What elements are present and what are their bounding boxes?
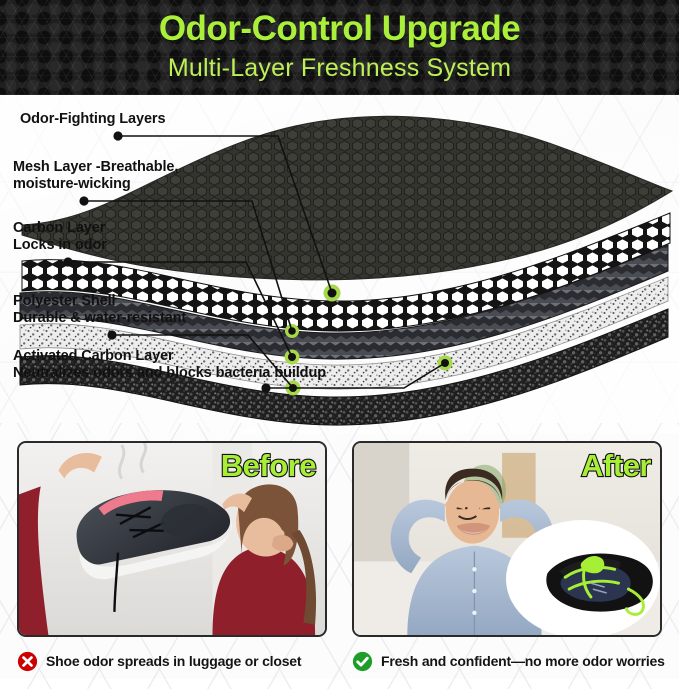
callout-polyester-shell: Polyester Shell Durable & water-resistan… bbox=[13, 293, 186, 327]
after-photo-panel: After bbox=[352, 441, 662, 637]
callout-carbon-layer: Carbon Layer Locks in odor bbox=[13, 220, 107, 254]
before-after-comparison: Before Shoe odor spreads in luggage or c… bbox=[0, 433, 679, 679]
before-caption-text: Shoe odor spreads in luggage or closet bbox=[46, 653, 301, 669]
before-caption: Shoe odor spreads in luggage or closet bbox=[17, 647, 301, 675]
callout-mesh-layer: Mesh Layer -Breathable, moisture-wicking bbox=[13, 159, 178, 193]
exploded-layer-illustration bbox=[0, 95, 679, 433]
after-caption-text: Fresh and confident—no more odor worries bbox=[381, 653, 665, 669]
layer-diagram-section: Odor-Fighting Layers Mesh Layer -Breatha… bbox=[0, 95, 679, 433]
after-caption: Fresh and confident—no more odor worries bbox=[352, 647, 665, 675]
x-circle-icon bbox=[17, 651, 38, 672]
check-circle-icon bbox=[352, 651, 373, 672]
page-title: Odor-Control Upgrade bbox=[0, 0, 679, 46]
leader-dot-5 bbox=[261, 383, 270, 392]
leader-dot-3 bbox=[63, 257, 72, 266]
leader-dot-1 bbox=[113, 131, 122, 140]
leader-dot-4 bbox=[107, 330, 116, 339]
leader-dot-2 bbox=[79, 196, 88, 205]
page-subtitle: Multi-Layer Freshness System bbox=[0, 46, 679, 81]
before-photo-panel: Before bbox=[17, 441, 327, 637]
callout-odor-fighting-layers: Odor-Fighting Layers bbox=[20, 111, 165, 128]
header-banner: Odor-Control Upgrade Multi-Layer Freshne… bbox=[0, 0, 679, 95]
callout-activated-carbon: Activated Carbon Layer Neutralizes odors… bbox=[13, 348, 326, 382]
before-badge: Before bbox=[221, 450, 316, 481]
after-badge: After bbox=[581, 450, 651, 481]
